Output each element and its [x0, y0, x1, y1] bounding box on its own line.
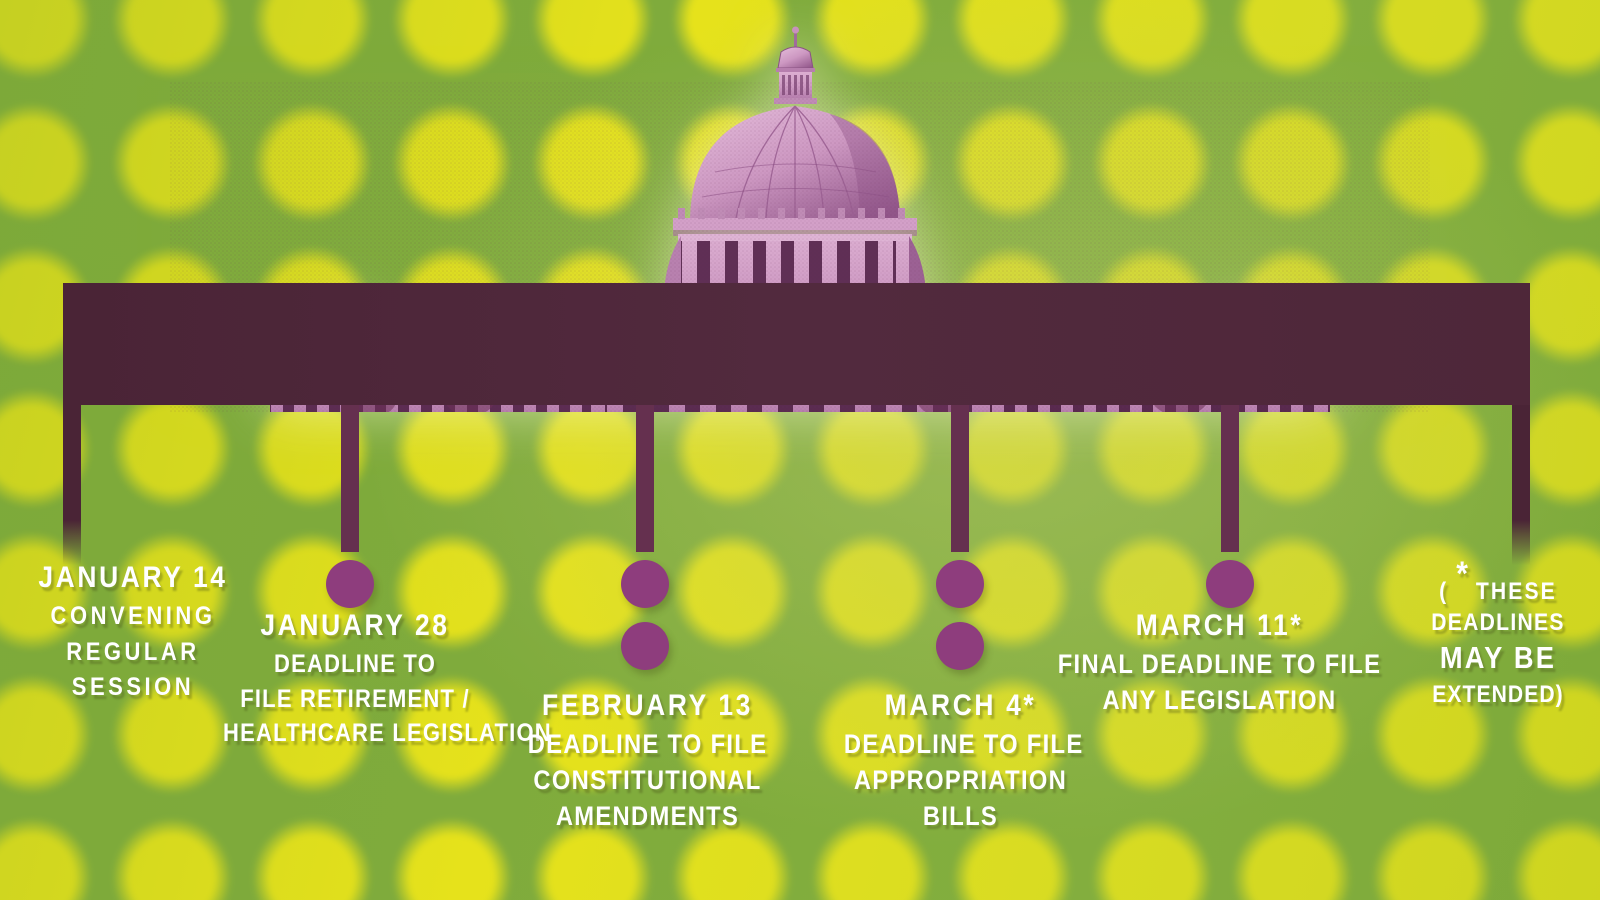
timeline-marker-dot-mar4-b — [936, 622, 984, 670]
event-date-jan28: JANUARY 28 — [223, 608, 487, 643]
event-description-jan14: CONVENING REGULAR SESSION — [23, 599, 243, 706]
event-date-mar11: MARCH 11* — [1055, 608, 1385, 643]
event-date-jan14: JANUARY 14 — [23, 560, 243, 595]
footnote-line-1: ( * THESE — [1410, 552, 1586, 607]
timeline-marker-dot-jan28 — [326, 560, 374, 608]
timeline-label-jan28: JANUARY 28 DEADLINE TO FILE RETIREMENT /… — [223, 608, 487, 751]
timeline-label-feb13: FEBRUARY 13 DEADLINE TO FILE CONSTITUTIO… — [522, 688, 773, 835]
timeline-marker-dot-mar4-a — [936, 560, 984, 608]
timeline-marker-dot-feb13-b — [621, 622, 669, 670]
timeline-label-jan14: JANUARY 14 CONVENING REGULAR SESSION — [23, 560, 243, 706]
timeline-label-mar11: MARCH 11* FINAL DEADLINE TO FILE ANY LEG… — [1055, 608, 1385, 719]
event-description-mar11: FINAL DEADLINE TO FILE ANY LEGISLATION — [1055, 647, 1385, 719]
footnote-line-2: DEADLINES — [1410, 607, 1586, 638]
capitol-building-svg — [170, 22, 1430, 412]
event-description-jan28: DEADLINE TO FILE RETIREMENT / HEALTHCARE… — [223, 647, 487, 751]
timeline-marker-dot-feb13-a — [621, 560, 669, 608]
event-date-feb13: FEBRUARY 13 — [522, 688, 773, 723]
event-description-feb13: DEADLINE TO FILE CONSTITUTIONAL AMENDMEN… — [522, 727, 773, 835]
asterisk-icon: * — [1456, 555, 1468, 593]
event-date-mar4: MARCH 4* — [844, 688, 1077, 723]
footnote-asterisk-note: ( * THESE DEADLINES MAY BE EXTENDED) — [1410, 552, 1586, 710]
infographic-poster: JANUARY 14 CONVENING REGULAR SESSION JAN… — [0, 0, 1600, 900]
event-description-mar4: DEADLINE TO FILE APPROPRIATION BILLS — [844, 727, 1077, 835]
capitol-building-illustration — [170, 22, 1430, 412]
footnote-line-4: EXTENDED) — [1410, 679, 1586, 710]
timeline-marker-dot-mar11 — [1206, 560, 1254, 608]
timeline-label-mar4: MARCH 4* DEADLINE TO FILE APPROPRIATION … — [844, 688, 1077, 835]
footnote-line-3: MAY BE — [1410, 638, 1586, 678]
